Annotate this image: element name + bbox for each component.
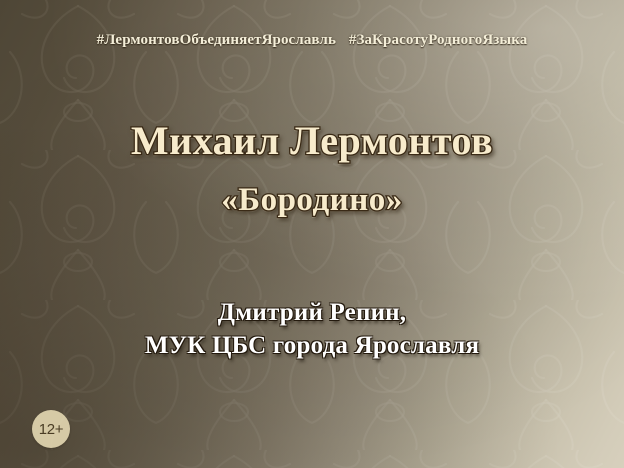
page-title: Михаил Лермонтов [0, 118, 624, 164]
page-subtitle: «Бородино» [0, 180, 624, 220]
hashtag-lermontov: #ЛермонтовОбъединяетЯрославль [97, 32, 336, 48]
presentation-slide: #ЛермонтовОбъединяетЯрославль #ЗаКрасоту… [0, 0, 624, 468]
hashtag-language: #ЗаКрасотуРодногоЯзыка [349, 32, 527, 48]
title-block: Михаил Лермонтов «Бородино» [0, 118, 624, 220]
background-vignette [0, 0, 624, 468]
author-organisation: МУК ЦБС города Ярославля [0, 329, 624, 362]
damask-ornament-pattern [0, 0, 624, 468]
age-rating-badge: 12+ [32, 410, 70, 448]
age-rating-label: 12+ [39, 421, 64, 438]
hashtag-bar: #ЛермонтовОбъединяетЯрославль #ЗаКрасоту… [0, 32, 624, 49]
author-name: Дмитрий Репин, [0, 296, 624, 329]
author-block: Дмитрий Репин, МУК ЦБС города Ярославля [0, 296, 624, 362]
